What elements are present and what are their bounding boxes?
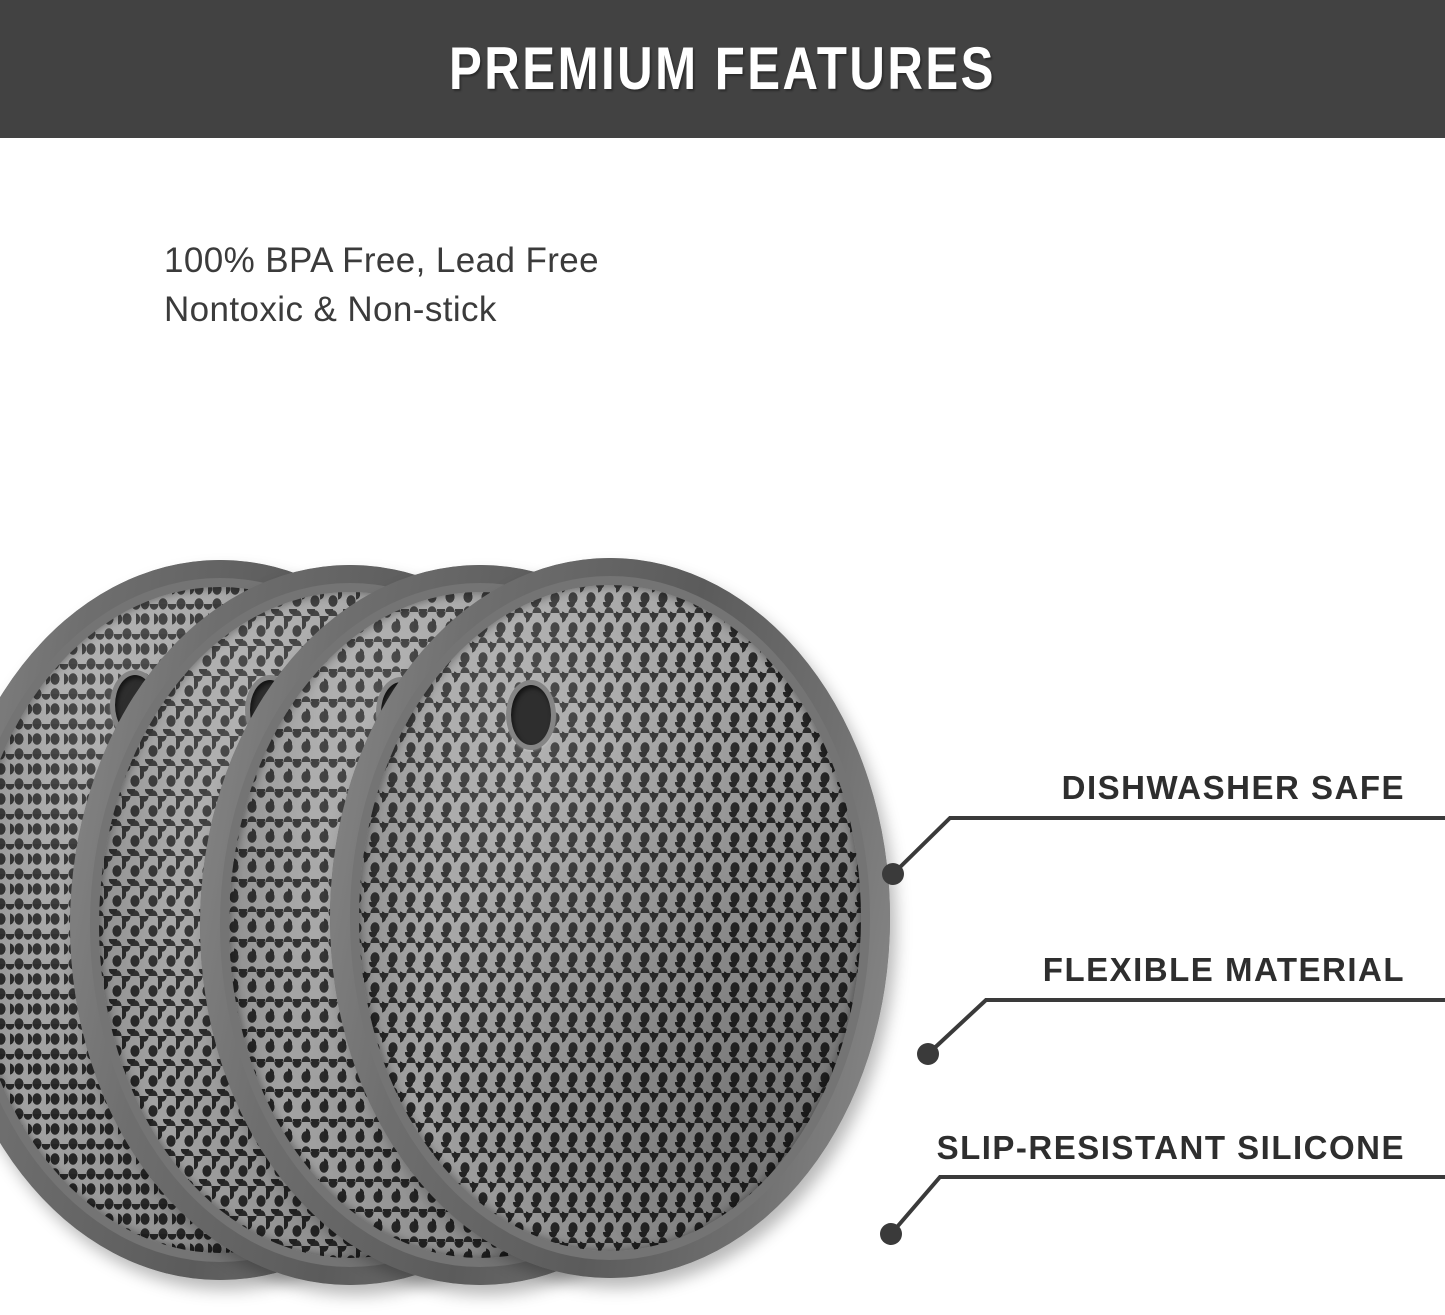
callout-leader-line-0 xyxy=(893,818,1445,874)
callout-label-dishwasher-safe: DISHWASHER SAFE xyxy=(1062,770,1405,806)
intro-line-2: Nontoxic & Non-stick xyxy=(164,285,599,334)
premium-features-infographic: PREMIUM FEATURES 100% BPA Free, Lead Fre… xyxy=(0,0,1445,1315)
product-image xyxy=(0,540,930,1315)
header-banner: PREMIUM FEATURES xyxy=(0,0,1445,138)
hanging-hole-icon xyxy=(506,680,556,750)
honeycomb-pattern xyxy=(356,582,864,1254)
callout-label-slip-resistant-silicone: SLIP-RESISTANT SILICONE xyxy=(937,1130,1405,1166)
trivet-disc-1 xyxy=(330,558,890,1278)
trivet-face xyxy=(356,582,864,1254)
intro-text-block: 100% BPA Free, Lead Free Nontoxic & Non-… xyxy=(164,236,599,334)
callout-leader-line-1 xyxy=(928,1000,1445,1054)
page-title: PREMIUM FEATURES xyxy=(449,39,996,99)
callout-label-flexible-material: FLEXIBLE MATERIAL xyxy=(1043,952,1405,988)
intro-line-1: 100% BPA Free, Lead Free xyxy=(164,236,599,285)
callout-leader-line-2 xyxy=(891,1177,1445,1234)
